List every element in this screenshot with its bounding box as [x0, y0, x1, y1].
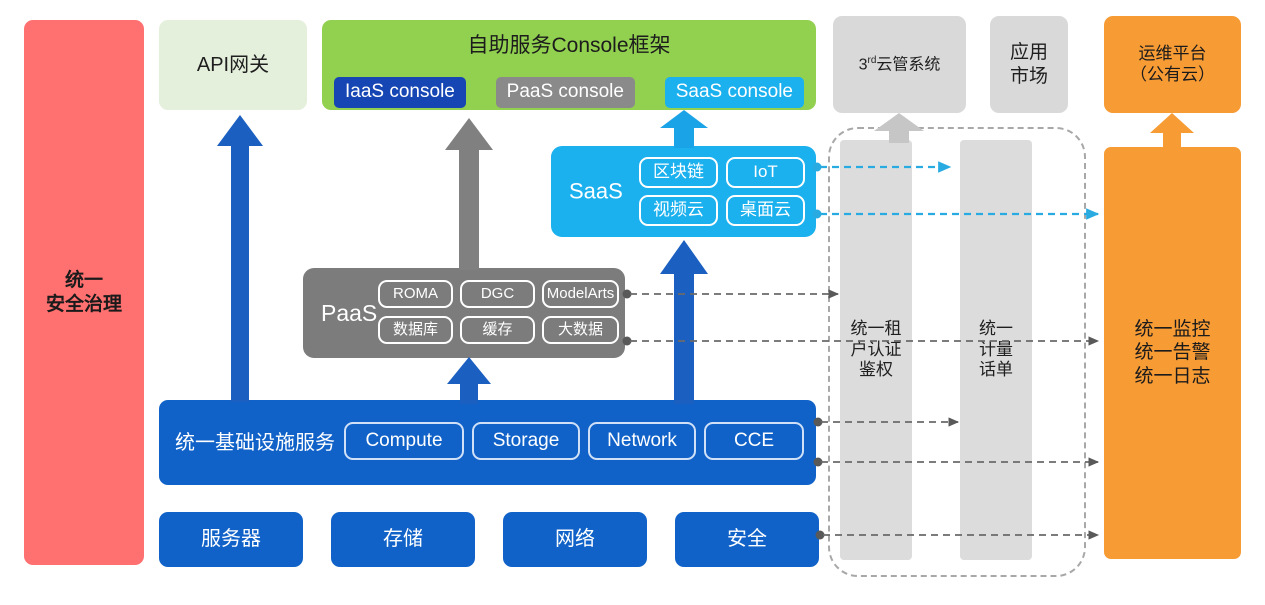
- arrow-infra-to-paas: [447, 357, 491, 404]
- console-frame-title: 自助服务Console框架: [467, 33, 670, 59]
- tenant-auth-line3: 鉴权: [840, 360, 912, 381]
- paas-chip-bigdata[interactable]: 大数据: [542, 316, 619, 344]
- console-button-row: IaaS console PaaS console SaaS console: [322, 77, 816, 108]
- paas-chip-cache[interactable]: 缓存: [460, 316, 535, 344]
- saas-chip-iot[interactable]: IoT: [726, 157, 805, 188]
- saas-label: SaaS: [569, 178, 623, 205]
- metering-line1: 统一: [960, 319, 1032, 340]
- metering-billing-column: 统一 计量 话单: [960, 140, 1032, 560]
- security-line1: 统一: [65, 269, 103, 292]
- ops-panel-line1: 统一监控: [1134, 318, 1210, 341]
- arrow-infra-to-api-gateway: [217, 115, 263, 402]
- security-line2: 安全治理: [46, 293, 122, 316]
- resource-box-security[interactable]: 安全: [675, 512, 819, 567]
- app-market-box: 应用 市场: [990, 16, 1068, 113]
- third-party-label: 3rd云管系统: [859, 55, 941, 75]
- resource-box-network[interactable]: 网络: [503, 512, 647, 567]
- metering-line3: 话单: [960, 360, 1032, 381]
- ops-monitoring-panel: 统一监控 统一告警 统一日志: [1104, 147, 1241, 559]
- iaas-console-button[interactable]: IaaS console: [334, 77, 466, 108]
- paas-chip-dgc[interactable]: DGC: [460, 280, 535, 308]
- resource-box-server[interactable]: 服务器: [159, 512, 303, 567]
- tenant-auth-column: 统一租 户认证 鉴权: [840, 140, 912, 560]
- arrow-ops-panel-to-ops-platform: [1150, 113, 1194, 149]
- arrow-saas-to-saas-console: [660, 110, 708, 148]
- tenant-auth-line1: 统一租: [840, 319, 912, 340]
- metering-line2: 计量: [960, 340, 1032, 361]
- saas-chip-blockchain[interactable]: 区块链: [639, 157, 718, 188]
- infra-chip-compute[interactable]: Compute: [344, 422, 464, 460]
- ops-panel-line3: 统一日志: [1134, 365, 1210, 388]
- paas-label: PaaS: [321, 299, 377, 327]
- infrastructure-label: 统一基础设施服务: [175, 430, 335, 454]
- security-governance-pillar: 统一 安全治理: [24, 20, 144, 565]
- app-market-line2: 市场: [1010, 65, 1048, 88]
- ops-platform-box: 运维平台 （公有云）: [1104, 16, 1241, 113]
- ops-panel-line2: 统一告警: [1134, 341, 1210, 364]
- infra-chip-cce[interactable]: CCE: [704, 422, 804, 460]
- self-service-console-frame: 自助服务Console框架 IaaS console PaaS console …: [322, 20, 816, 110]
- arrow-paas-to-console: [445, 118, 493, 270]
- arrow-infra-to-saas: [660, 240, 708, 404]
- saas-console-button[interactable]: SaaS console: [665, 77, 804, 108]
- paas-chip-roma[interactable]: ROMA: [378, 280, 453, 308]
- dashed-paas-to-tenant-auth: [623, 290, 839, 299]
- saas-layer-box: SaaS 区块链 IoT 视频云 桌面云: [551, 146, 816, 237]
- infra-chip-storage[interactable]: Storage: [472, 422, 580, 460]
- paas-layer-box: PaaS ROMA DGC ModelArts 数据库 缓存 大数据: [303, 268, 625, 358]
- paas-chip-modelarts[interactable]: ModelArts: [542, 280, 619, 308]
- paas-chip-database[interactable]: 数据库: [378, 316, 453, 344]
- ops-platform-line2: （公有云）: [1130, 65, 1215, 86]
- app-market-line1: 应用: [1010, 41, 1048, 64]
- tenant-auth-line2: 户认证: [840, 340, 912, 361]
- saas-chip-video-cloud[interactable]: 视频云: [639, 195, 718, 226]
- paas-console-button[interactable]: PaaS console: [496, 77, 635, 108]
- infra-chip-network[interactable]: Network: [588, 422, 696, 460]
- saas-chip-desktop-cloud[interactable]: 桌面云: [726, 195, 805, 226]
- api-gateway-label: API网关: [197, 53, 269, 77]
- resource-box-storage[interactable]: 存储: [331, 512, 475, 567]
- architecture-diagram: 统一 安全治理 API网关 自助服务Console框架 IaaS console…: [0, 0, 1265, 605]
- unified-infrastructure-bar: 统一基础设施服务 Compute Storage Network CCE: [159, 400, 816, 485]
- ops-platform-line1: 运维平台: [1139, 44, 1207, 65]
- third-party-cloud-mgmt-box: 3rd云管系统: [833, 16, 966, 113]
- api-gateway-box: API网关: [159, 20, 307, 110]
